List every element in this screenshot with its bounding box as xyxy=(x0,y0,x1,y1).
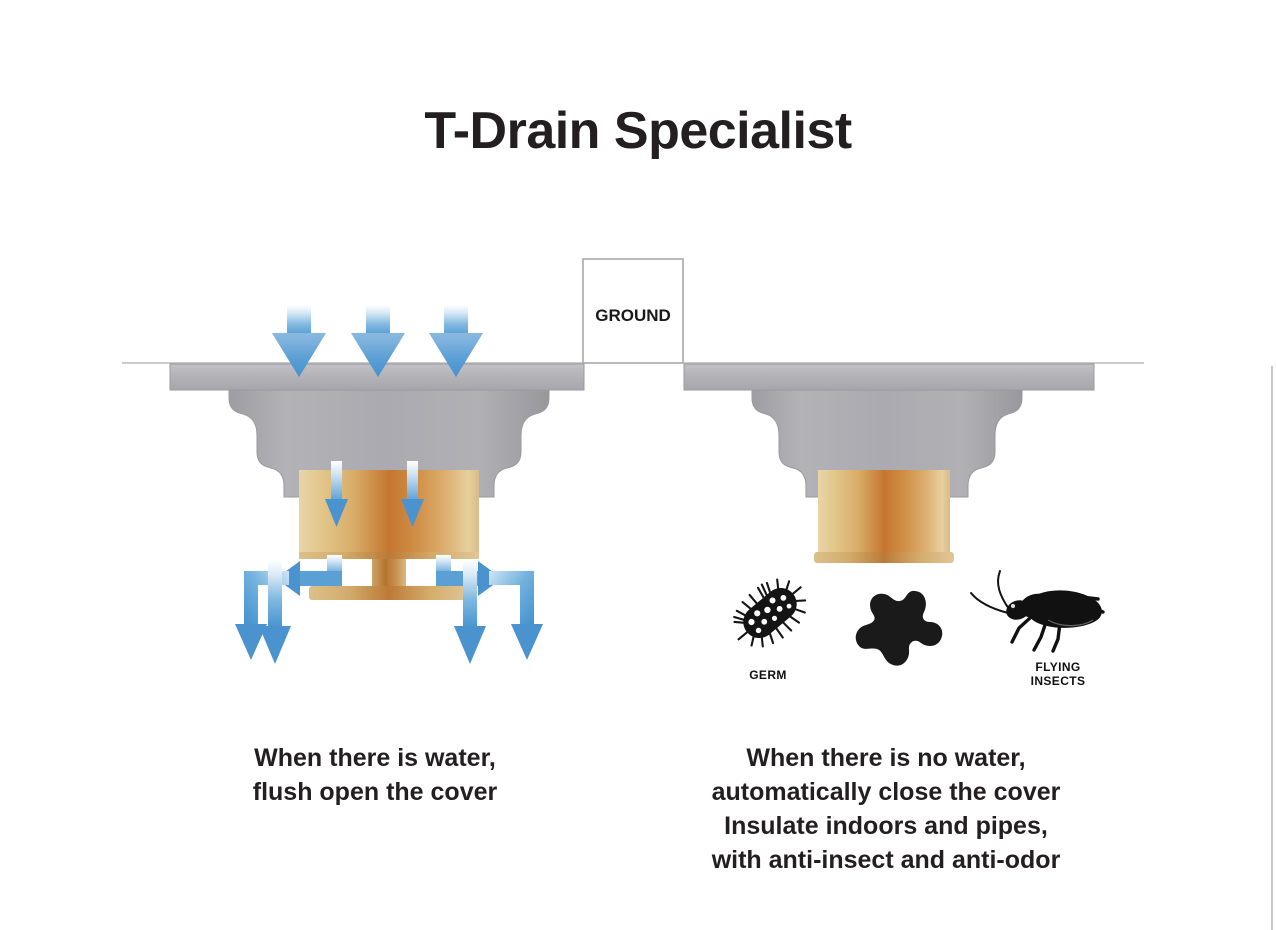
germ-label: GERM xyxy=(749,668,787,682)
right-caption-line-1: When there is no water, xyxy=(746,744,1025,772)
t-drain-diagram: T-Drain Specialist GROUND xyxy=(0,0,1276,930)
right-flange xyxy=(684,364,1094,390)
page-title: T-Drain Specialist xyxy=(424,102,852,160)
right-caption: When there is no water, automatically cl… xyxy=(711,744,1061,874)
left-caption-line-1: When there is water, xyxy=(254,744,496,772)
poster-canvas: T-Drain Specialist GROUND xyxy=(0,0,1276,930)
ground-label: GROUND xyxy=(595,306,671,325)
left-brass-barrel-rim xyxy=(299,552,479,559)
right-drain-closed-assembly xyxy=(684,364,1094,563)
pest-group: GERM xyxy=(721,567,1103,688)
right-brass-barrel xyxy=(818,470,950,556)
cockroach-icon xyxy=(971,571,1103,651)
odor-blob-icon xyxy=(856,591,943,666)
left-inflow-arrows xyxy=(272,305,483,377)
odor-blob-shape xyxy=(856,591,943,666)
flying-insects-label-line2: INSECTS xyxy=(1031,674,1086,688)
left-brass-barrel xyxy=(299,470,479,558)
germ-icon xyxy=(721,567,818,660)
left-drain-open-assembly xyxy=(170,305,584,664)
left-caption-line-2: flush open the cover xyxy=(253,778,498,806)
right-brass-barrel-closed-rim xyxy=(814,552,954,563)
left-valve-cover-disk xyxy=(309,586,469,600)
ground-callout: GROUND xyxy=(583,259,683,363)
flying-insects-label-line1: FLYING xyxy=(1035,660,1080,674)
right-caption-line-3: Insulate indoors and pipes, xyxy=(724,812,1048,840)
outflow-arrow-right-outer-elbow xyxy=(489,571,543,660)
left-caption: When there is water, flush open the cove… xyxy=(253,744,498,806)
right-caption-line-4: with anti-insect and anti-odor xyxy=(711,846,1061,874)
right-caption-line-2: automatically close the cover xyxy=(712,778,1061,806)
